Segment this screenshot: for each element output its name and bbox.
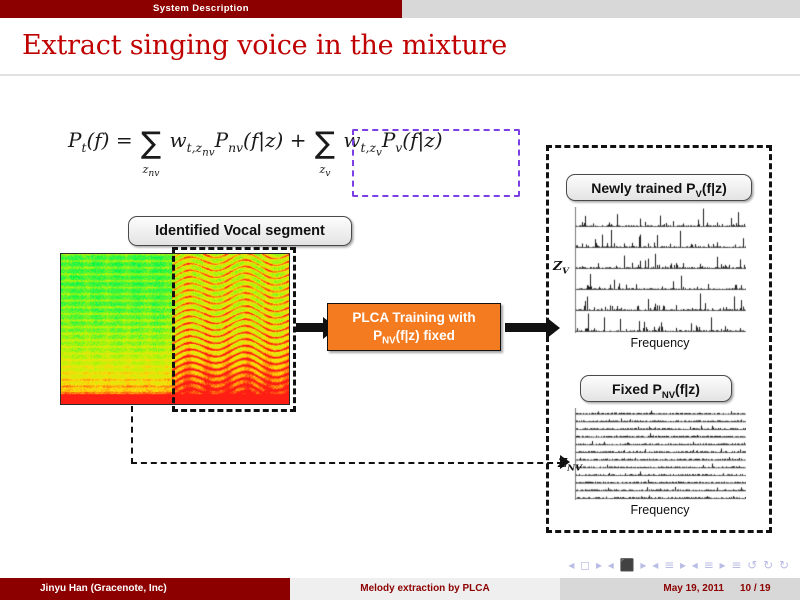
section-tab[interactable]: System Description — [0, 0, 402, 18]
feedback-path-arrowhead — [560, 455, 570, 469]
equation-lhs-arg: (f) = — [86, 128, 132, 152]
page-title: Extract singing voice in the mixture — [22, 30, 507, 61]
sum-index-1: znv — [143, 160, 160, 184]
prob-1-sub: nv — [228, 140, 243, 155]
newly-trained-tail: (f|z) — [702, 180, 727, 196]
arrow-spectrogram-to-plca — [296, 323, 324, 332]
basis-plot-canvas-nonvocal — [574, 408, 746, 500]
footer-bar: Jinyu Han (Gracenote, Inc) Melody extrac… — [0, 578, 800, 600]
slide-canvas: System Description Extract singing voice… — [0, 0, 800, 600]
title-divider — [0, 74, 800, 76]
plca-line-1: PLCA Training with — [352, 310, 475, 325]
fixed-pnv-label: Fixed PNV(f|z) — [580, 375, 732, 402]
weight-1-sub-sub: nv — [202, 146, 215, 158]
fixed-text: Fixed P — [612, 381, 662, 397]
header-divider — [0, 18, 800, 20]
prob-1: P — [215, 128, 228, 152]
feedback-path-vertical — [131, 406, 133, 464]
equation-lhs: P — [68, 128, 81, 152]
feedback-path-horizontal — [131, 462, 563, 464]
newly-trained-pv-label: Newly trained PV(f|z) — [566, 174, 752, 201]
newly-trained-text: Newly trained P — [591, 180, 695, 196]
plca-line-2-pre: P — [373, 328, 382, 343]
zv-axis-label: ZV — [553, 258, 569, 277]
zv-base: Z — [553, 258, 562, 273]
sum-index-2-sub: v — [325, 168, 330, 179]
footer-page-number: 10 / 19 — [740, 578, 800, 600]
header-bar: System Description — [0, 0, 800, 18]
plca-training-box: PLCA Training with PNV(f|z) fixed — [327, 303, 501, 351]
sum-glyph-2: ∑ — [315, 126, 335, 161]
sum-index-2: zv — [319, 160, 330, 184]
sum-symbol-nonvocal: ∑znv — [141, 134, 161, 154]
fixed-basis-plots — [574, 408, 746, 500]
beamer-navigation-symbols[interactable]: ◂ ◻ ▸ ◂ ⬛ ▸ ◂ ≡ ▸ ◂ ≡ ▸ ≡ ↺ ↻ ↻ — [505, 558, 790, 574]
plca-line-2-sub: NV — [382, 336, 396, 347]
sum-glyph-1: ∑ — [141, 126, 161, 161]
weight-1-sub-base: t,z — [187, 140, 202, 155]
prob-1-arg: (f|z) — [243, 128, 283, 152]
sum-symbol-vocal: ∑zv — [315, 134, 335, 154]
zv-sub: V — [562, 267, 569, 277]
basis-plot-canvas-vocal — [574, 207, 746, 333]
fixed-subscript: NV — [662, 390, 675, 401]
footer-date: May 19, 2011 — [560, 578, 740, 600]
arrow-plca-to-output — [505, 323, 547, 332]
footer-author: Jinyu Han (Gracenote, Inc) — [0, 578, 290, 600]
weight-1-sub: t,znv — [187, 140, 215, 155]
identified-vocal-segment-label: Identified Vocal segment — [128, 216, 352, 246]
vocal-term-highlight-box — [352, 129, 520, 197]
vocal-segment-selection-box — [172, 247, 296, 412]
newly-trained-basis-plots — [574, 207, 746, 333]
fixed-tail: (f|z) — [675, 381, 700, 397]
frequency-axis-label-bottom: Frequency — [574, 503, 746, 517]
equation-plus: + — [290, 128, 307, 152]
footer-subject: Melody extraction by PLCA — [290, 578, 560, 600]
weight-1: w — [170, 128, 187, 152]
plca-line-2-post: (f|z) fixed — [396, 328, 455, 343]
frequency-axis-label-top: Frequency — [574, 336, 746, 350]
sum-index-1-sub: nv — [148, 168, 159, 179]
